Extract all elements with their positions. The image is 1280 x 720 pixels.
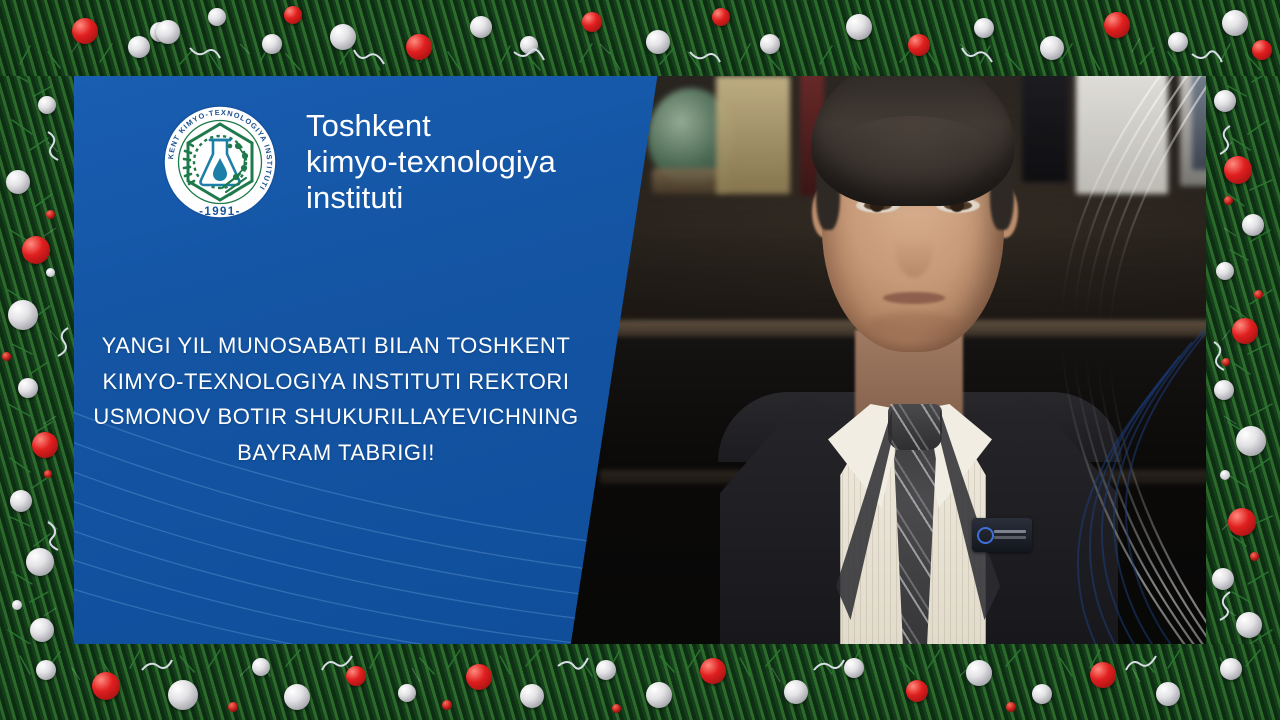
hair [811,56,1015,206]
blue-info-panel: TOSHKENT KIMYO-TEXNOLOGIYA INSTITUTI [42,46,662,676]
institute-logo-lockup: TOSHKENT KIMYO-TEXNOLOGIYA INSTITUTI [160,102,556,222]
greeting-headline: YANGI YIL MUNOSABATI BILAN TOSHKENT KIMY… [56,328,616,471]
mouth [883,292,945,304]
rector-portrait [600,0,1160,720]
necktie-knot-stripes [888,404,942,450]
photo-frame-inner [1192,74,1254,170]
tki-emblem-icon: TOSHKENT KIMYO-TEXNOLOGIYA INSTITUTI [160,102,280,222]
emblem-year: -1991- [199,206,241,218]
name-badge [972,518,1032,552]
chin-shadow [868,312,960,338]
necktie-knot [888,404,942,450]
institute-wordmark: Toshkent kimyo-texnologiya instituti [306,108,556,216]
greeting-card-stage: TOSHKENT KIMYO-TEXNOLOGIYA INSTITUTI [0,0,1280,720]
